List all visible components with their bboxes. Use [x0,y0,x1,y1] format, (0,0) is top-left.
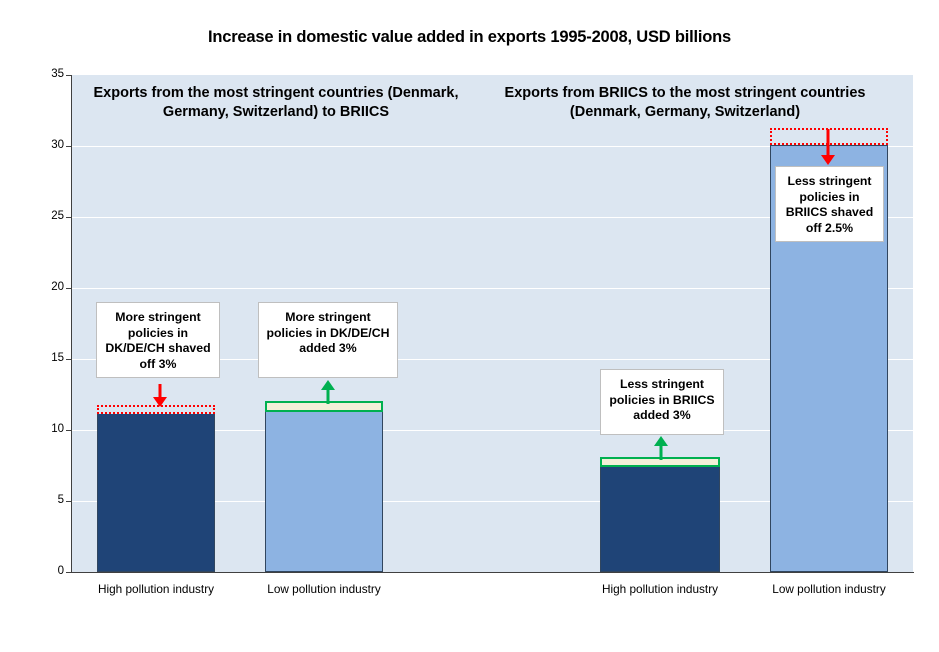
bar-1-high-pollution-stringent-exports[interactable] [97,413,215,572]
y-axis-label-35: 35 [32,68,64,80]
y-tick-0 [66,572,72,573]
arrow-down-icon-1 [150,384,170,408]
y-tick-35 [66,75,72,76]
group-header-right: Exports from BRIICS to the most stringen… [500,84,870,122]
arrow-up-icon-3 [651,435,671,460]
bar-3-high-pollution-briics-exports[interactable] [600,466,720,572]
annotation-box-1: More stringent policies in DK/DE/CH shav… [96,302,220,378]
y-tick-20 [66,288,72,289]
y-tick-15 [66,359,72,360]
arrow-down-icon-4 [818,129,838,166]
y-axis-label-25: 25 [32,210,64,222]
x-axis-label-1: High pollution industry [86,582,226,596]
y-axis-label-0: 0 [32,565,64,577]
y-axis-line [71,75,72,573]
x-axis-label-2: Low pollution industry [254,582,394,596]
group-header-left: Exports from the most stringent countrie… [86,84,466,122]
arrow-up-icon-2 [318,379,338,404]
y-axis-label-10: 10 [32,423,64,435]
bar-2-low-pollution-stringent-exports[interactable] [265,411,383,572]
y-tick-25 [66,217,72,218]
annotation-box-2: More stringent policies in DK/DE/CH adde… [258,302,398,378]
y-axis-label-20: 20 [32,281,64,293]
x-axis-label-3: High pollution industry [590,582,730,596]
y-axis-label-15: 15 [32,352,64,364]
y-tick-5 [66,501,72,502]
y-axis-label-5: 5 [32,494,64,506]
chart-container: Increase in domestic value added in expo… [0,0,939,652]
y-tick-30 [66,146,72,147]
x-axis-label-4: Low pollution industry [759,582,899,596]
annotation-box-4: Less stringent policies in BRIICS shaved… [775,166,884,242]
x-axis-line [71,572,914,573]
chart-title: Increase in domestic value added in expo… [0,28,939,47]
annotation-box-3: Less stringent policies in BRIICS added … [600,369,724,435]
y-tick-10 [66,430,72,431]
y-axis-labels: 35 30 25 20 15 10 5 0 [26,75,64,572]
y-axis-label-30: 30 [32,139,64,151]
